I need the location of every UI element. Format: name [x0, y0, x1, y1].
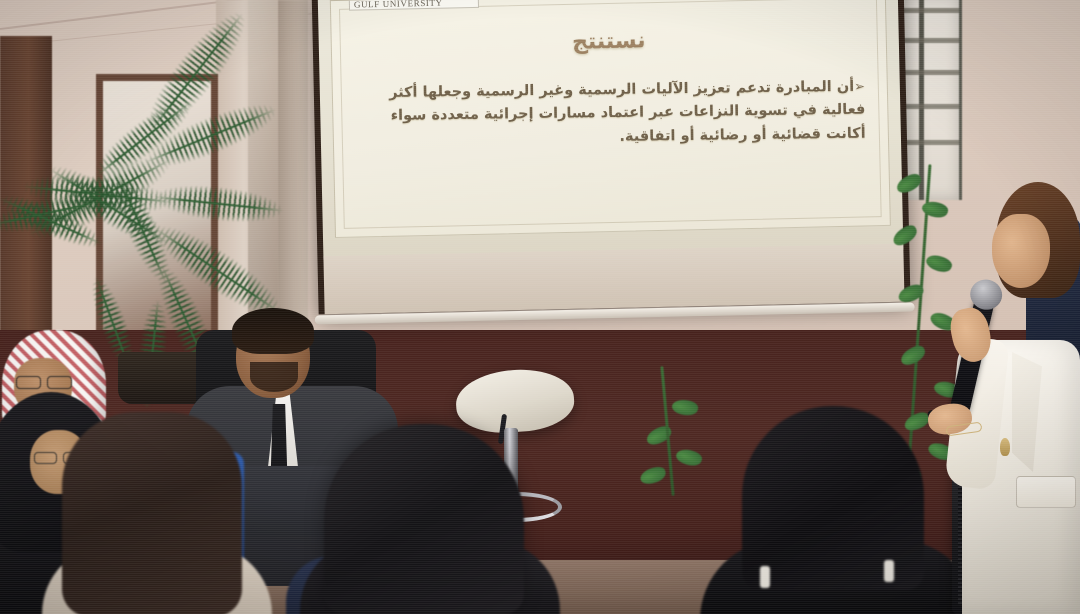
logo-text: GULF UNIVERSITY	[350, 0, 443, 10]
eyeglasses-icon	[16, 376, 72, 387]
white-collar-edge	[760, 566, 770, 588]
man-hair	[232, 308, 314, 354]
blazer-pocket-flap	[1016, 476, 1076, 508]
window-mullion	[919, 0, 924, 200]
wall-pillar-secondary	[278, 0, 308, 330]
slide-title: نستنتج	[332, 23, 886, 60]
gulf-university-logo: GULF UNIVERSITY	[348, 0, 479, 11]
bullet-arrow-icon: ➢	[854, 80, 865, 95]
projection-screen: GULF UNIVERSITY نستنتج ➢أن المبادرة تدعم…	[311, 0, 910, 314]
hijab-headscarf	[324, 424, 524, 614]
long-dark-hair	[62, 412, 242, 614]
presenter-face	[992, 214, 1050, 288]
presentation-slide: GULF UNIVERSITY نستنتج ➢أن المبادرة تدعم…	[330, 0, 891, 238]
hijab-headscarf	[742, 406, 924, 590]
screen-surface: GULF UNIVERSITY نستنتج ➢أن المبادرة تدعم…	[318, 0, 904, 262]
white-collar-edge	[884, 560, 894, 582]
slide-line-text: أن المبادرة تدعم تعزيز الآليات الرسمية و…	[389, 79, 854, 101]
presentation-photo: GULF UNIVERSITY نستنتج ➢أن المبادرة تدعم…	[0, 0, 1080, 614]
man-beard	[250, 362, 298, 392]
blazer-brooch	[1000, 438, 1010, 456]
slide-body: ➢أن المبادرة تدعم تعزيز الآليات الرسمية …	[359, 76, 866, 153]
